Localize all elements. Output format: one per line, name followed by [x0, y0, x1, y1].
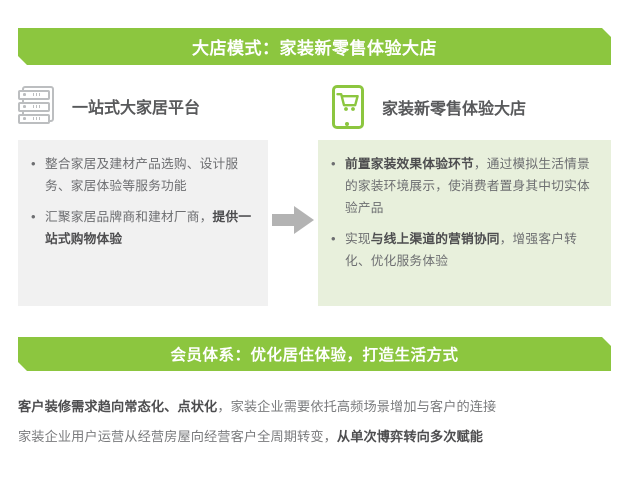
banner-bottom-title: 会员体系：优化居住体验，打造生活方式 — [18, 337, 611, 371]
slide-canvas: 大店模式：家装新零售体验大店 一站式大家居平台 家装新零售体验大店 • — [0, 0, 629, 484]
bullet-list-left: • 整合家居及建材产品选购、设计服务、家居体验等服务功能 • 汇聚家居品牌商和建… — [28, 153, 254, 250]
bullet-text: 整合家居及建材产品选购、设计服务、家居体验等服务功能 — [45, 153, 254, 197]
bullet-text: 前置家装效果体验环节，通过模拟生活情景的家装环境展示，使消费者置身其中切实体验产… — [345, 153, 597, 219]
list-item: • 前置家装效果体验环节，通过模拟生活情景的家装环境展示，使消费者置身其中切实体… — [328, 153, 597, 219]
content-box-left: • 整合家居及建材产品选购、设计服务、家居体验等服务功能 • 汇聚家居品牌商和建… — [18, 140, 268, 306]
paragraph-line: 家装企业用户运营从经营房屋向经营客户全周期转变，从单次博弈转向多次赋能 — [18, 422, 616, 452]
bullet-marker: • — [328, 228, 345, 250]
server-stack-icon — [14, 84, 58, 128]
column-title-right: 家装新零售体验大店 — [382, 95, 526, 119]
column-header-right: 家装新零售体验大店 — [328, 84, 526, 130]
content-box-right: • 前置家装效果体验环节，通过模拟生活情景的家装环境展示，使消费者置身其中切实体… — [318, 140, 611, 306]
bottom-paragraph: 客户装修需求趋向常态化、点状化，家装企业需要依托高频场景增加与客户的连接 家装企… — [18, 392, 616, 452]
bullet-text: 实现与线上渠道的营销协同，增强客户转化、优化服务体验 — [345, 228, 597, 272]
list-item: • 汇聚家居品牌商和建材厂商，提供一站式购物体验 — [28, 206, 254, 250]
bullet-marker: • — [328, 153, 345, 175]
column-header-left: 一站式大家居平台 — [14, 84, 200, 128]
banner-top-title: 大店模式：家装新零售体验大店 — [18, 28, 611, 65]
list-item: • 实现与线上渠道的营销协同，增强客户转化、优化服务体验 — [328, 228, 597, 272]
list-item: • 整合家居及建材产品选购、设计服务、家居体验等服务功能 — [28, 153, 254, 197]
phone-shopping-cart-icon — [328, 84, 368, 130]
bullet-list-right: • 前置家装效果体验环节，通过模拟生活情景的家装环境展示，使消费者置身其中切实体… — [328, 153, 597, 272]
bullet-marker: • — [28, 206, 45, 228]
right-arrow-icon — [272, 205, 314, 235]
paragraph-line: 客户装修需求趋向常态化、点状化，家装企业需要依托高频场景增加与客户的连接 — [18, 392, 616, 422]
bullet-marker: • — [28, 153, 45, 175]
bullet-text: 汇聚家居品牌商和建材厂商，提供一站式购物体验 — [45, 206, 254, 250]
column-title-left: 一站式大家居平台 — [72, 94, 200, 118]
